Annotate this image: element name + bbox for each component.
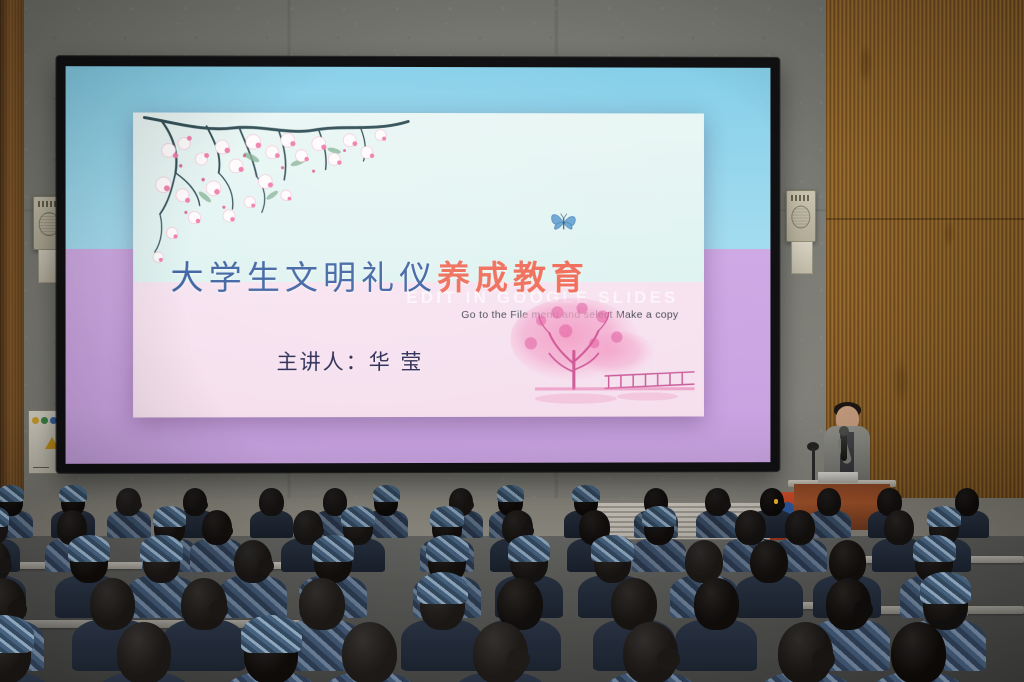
speaker-grill-icon: [791, 206, 810, 229]
audience-member-cap: [68, 535, 110, 562]
safe-icon: [41, 417, 48, 424]
audience-member-hair-bun: [507, 648, 530, 671]
pink-cherry-tree-icon: [494, 283, 699, 418]
audience-member-head: [342, 622, 397, 682]
lecture-hall-scene: 大学生文明礼仪养成教育 EDIT IN GOOGLE SLIDES Go to …: [0, 0, 1024, 682]
audience-member: [299, 578, 344, 682]
projection-screen-surface: 大学生文明礼仪养成教育 EDIT IN GOOGLE SLIDES Go to …: [66, 66, 771, 464]
audience-member-hair-bun: [464, 500, 474, 510]
audience-member-cap: [572, 485, 599, 502]
slide-speaker-credit: 主讲人：华 莹: [277, 346, 424, 376]
audience-member-cap: [312, 535, 354, 562]
audience-member-hair-bun: [0, 558, 12, 574]
audience-member-hair-bun: [221, 525, 234, 538]
audience-member-cap: [497, 485, 524, 502]
audience-member-hair-bun: [198, 500, 208, 510]
audience-member-head: [891, 622, 946, 682]
audience-member-cap: [0, 485, 24, 502]
audience-member-head: [685, 540, 723, 583]
audience-member: [778, 622, 833, 682]
audience-member-hair-bun: [854, 600, 873, 619]
audience-member-cap: [59, 485, 86, 502]
blue-butterfly-icon: [548, 209, 578, 235]
wall-speaker-right: [786, 190, 816, 242]
audience-member: [644, 510, 674, 588]
audience-member-hair-bun: [132, 500, 142, 510]
audience-member-cap: [591, 535, 633, 562]
audience-seating-area: [0, 470, 1024, 682]
audience-member: [202, 510, 232, 588]
audience-member-head: [817, 488, 841, 516]
slide-content-card: 大学生文明礼仪养成教育 EDIT IN GOOGLE SLIDES Go to …: [133, 112, 704, 418]
audience-member-hair-bun: [657, 648, 680, 671]
audience-member-hair-bun: [209, 600, 228, 619]
audience-member-cap: [417, 572, 468, 604]
projection-screen: 大学生文明礼仪养成教育 EDIT IN GOOGLE SLIDES Go to …: [56, 56, 779, 473]
audience-member: [694, 578, 739, 682]
audience-member-cap: [642, 506, 676, 527]
audience-member-head: [785, 510, 815, 545]
audience-member-cap: [920, 572, 971, 604]
notice-footer-line: [33, 467, 49, 468]
audience-member-cap: [426, 535, 468, 562]
audience-member-cap: [430, 506, 464, 527]
audience-member-hair-bun: [258, 558, 274, 574]
audience-member-cap: [913, 535, 955, 562]
audience-member-head: [259, 488, 283, 516]
handheld-microphone-icon: [841, 431, 847, 461]
audience-member-cap: [373, 485, 400, 502]
audience-member-head: [884, 510, 914, 545]
wall-left-wood-panel: [0, 0, 24, 500]
speaker-mount-plate: [791, 241, 813, 274]
warning-icon: [32, 417, 39, 424]
audience-member-cap: [927, 506, 961, 527]
audience-member: [342, 622, 397, 682]
audience-member-cap: [341, 506, 375, 527]
audience-member-head: [829, 540, 867, 583]
audience-member: [473, 622, 528, 682]
audience-member-hair-bun: [312, 525, 325, 538]
audience-member: [785, 510, 815, 588]
audience-member-head: [750, 540, 788, 583]
audience-member-cap: [153, 506, 187, 527]
audience-member-hair-bun: [720, 500, 730, 510]
slide-title-blue-part: 大学生文明礼仪: [170, 258, 437, 297]
audience-member: [884, 510, 914, 588]
audience-member-cap: [508, 535, 550, 562]
speaker-vent-slot: [791, 195, 811, 201]
audience-member: [117, 622, 172, 682]
audience-member: [116, 488, 140, 551]
audience-member: [0, 622, 31, 682]
audience-member-head: [299, 578, 344, 630]
audience-member-cap: [241, 615, 302, 654]
audience-member-head: [694, 578, 739, 630]
audience-member-head: [117, 622, 172, 682]
audience-member: [623, 622, 678, 682]
audience-member: [891, 622, 946, 682]
audience-member: [244, 622, 299, 682]
audience-member: [181, 578, 226, 682]
audience-member-cap: [140, 535, 182, 562]
audience-member-hair-bun: [812, 648, 835, 671]
audience-member: [420, 578, 465, 682]
